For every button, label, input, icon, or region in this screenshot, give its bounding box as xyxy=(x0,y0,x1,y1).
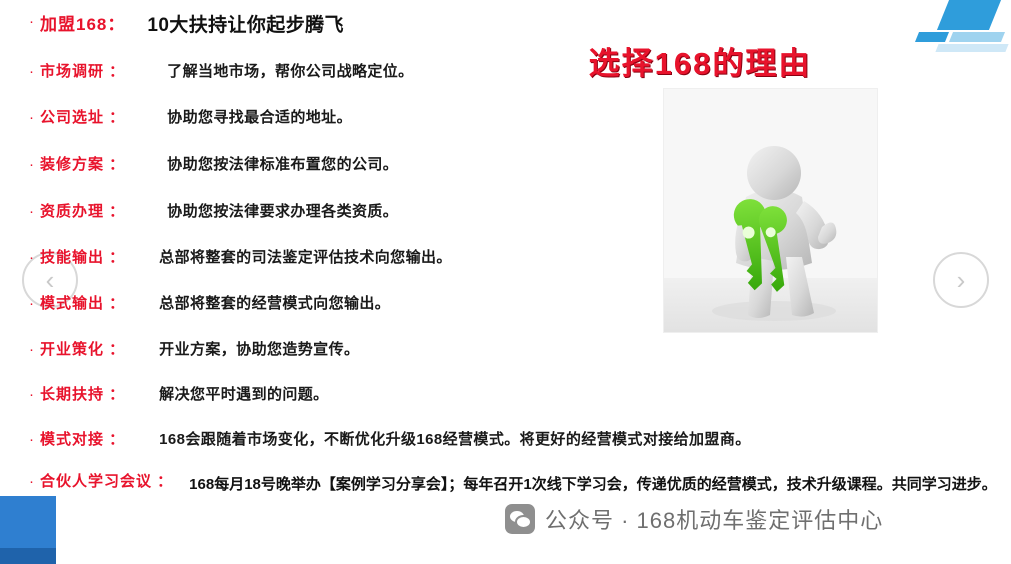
chevron-left-icon: ‹ xyxy=(46,267,55,293)
list-bullet: · xyxy=(8,60,40,79)
list-item-desc: 168每月18号晚举办【案例学习分享会】；每年召开1次线下学习会，传递优质的经营… xyxy=(189,470,1009,500)
list-item: · 模式输出 ： 总部将整套的经营模式向您输出。 xyxy=(8,292,390,313)
list-bullet: · xyxy=(8,292,40,311)
wechat-icon xyxy=(505,504,535,534)
list-item: · 市场调研 ： 了解当地市场，帮你公司战略定位。 xyxy=(8,60,414,81)
list-item-label: 长期扶持 ： xyxy=(40,383,125,404)
list-item: · 技能输出 ： 总部将整套的司法鉴定评估技术向您输出。 xyxy=(8,246,452,267)
list-item-label: 公司选址 ： xyxy=(40,106,125,127)
list-item: · 模式对接 ： 168会跟随着市场变化，不断优化升级168经营模式。将更好的经… xyxy=(8,428,751,449)
list-bullet: · xyxy=(8,246,40,265)
page-title: 选择168的理由 xyxy=(510,38,890,83)
list-item-label: 加盟168： xyxy=(40,10,125,35)
list-item: · 加盟168： 10大扶持让你起步腾飞 xyxy=(8,10,344,37)
list-bullet: · xyxy=(8,200,40,219)
list-item-desc: 总部将整套的经营模式向您输出。 xyxy=(159,292,390,313)
list-bullet: · xyxy=(8,153,40,172)
list-item-label: 合伙人学习会议 ： xyxy=(40,470,173,491)
list-item: · 长期扶持 ： 解决您平时遇到的问题。 xyxy=(8,383,329,404)
list-item-desc: 协助您按法律要求办理各类资质。 xyxy=(167,200,398,221)
list-item: · 资质办理 ： 协助您按法律要求办理各类资质。 xyxy=(8,200,398,221)
list-item: · 公司选址 ： 协助您寻找最合适的地址。 xyxy=(8,106,352,127)
list-item-label: 装修方案 ： xyxy=(40,153,125,174)
list-item-desc: 总部将整套的司法鉴定评估技术向您输出。 xyxy=(159,246,452,267)
decor-blue-block xyxy=(0,496,56,564)
list-item-desc: 协助您按法律标准布置您的公司。 xyxy=(167,153,398,174)
list-item-desc: 解决您平时遇到的问题。 xyxy=(159,383,328,404)
list-bullet: · xyxy=(8,470,40,489)
list-bullet: · xyxy=(8,428,40,447)
next-slide-button[interactable]: › xyxy=(933,252,989,308)
list-bullet: · xyxy=(8,338,40,357)
list-item-label: 技能输出 ： xyxy=(40,246,125,267)
list-item-label: 市场调研 ： xyxy=(40,60,125,81)
list-item-label: 模式对接 ： xyxy=(40,428,125,449)
slide: ‹ › 选择168的理由 xyxy=(0,0,1011,564)
list-item: · 装修方案 ： 协助您按法律标准布置您的公司。 xyxy=(8,153,398,174)
list-item-desc: 协助您寻找最合适的地址。 xyxy=(167,106,352,127)
list-item-desc: 168会跟随着市场变化，不断优化升级168经营模式。将更好的经营模式对接给加盟商… xyxy=(159,428,750,449)
list-bullet: · xyxy=(8,10,40,29)
list-bullet: · xyxy=(8,383,40,402)
list-item-label: 开业策化 ： xyxy=(40,338,125,359)
decor-ribbon xyxy=(891,0,1011,56)
hero-image xyxy=(663,88,878,333)
list-item: · 合伙人学习会议 ： 168每月18号晚举办【案例学习分享会】；每年召开1次线… xyxy=(8,470,998,500)
chevron-right-icon: › xyxy=(957,267,966,293)
list-item: · 开业策化 ： 开业方案，协助您造势宣传。 xyxy=(8,338,359,359)
footer-text: 公众号 · 168机动车鉴定评估中心 xyxy=(545,503,883,535)
list-item-label: 模式输出 ： xyxy=(40,292,125,313)
list-item-desc: 了解当地市场，帮你公司战略定位。 xyxy=(167,60,413,81)
list-item-label: 资质办理 ： xyxy=(40,200,125,221)
list-item-desc: 10大扶持让你起步腾飞 xyxy=(147,10,344,37)
list-item-desc: 开业方案，协助您造势宣传。 xyxy=(159,338,359,359)
figure-illustration xyxy=(664,89,877,332)
list-bullet: · xyxy=(8,106,40,125)
footer-watermark: 公众号 · 168机动车鉴定评估中心 xyxy=(505,503,883,535)
